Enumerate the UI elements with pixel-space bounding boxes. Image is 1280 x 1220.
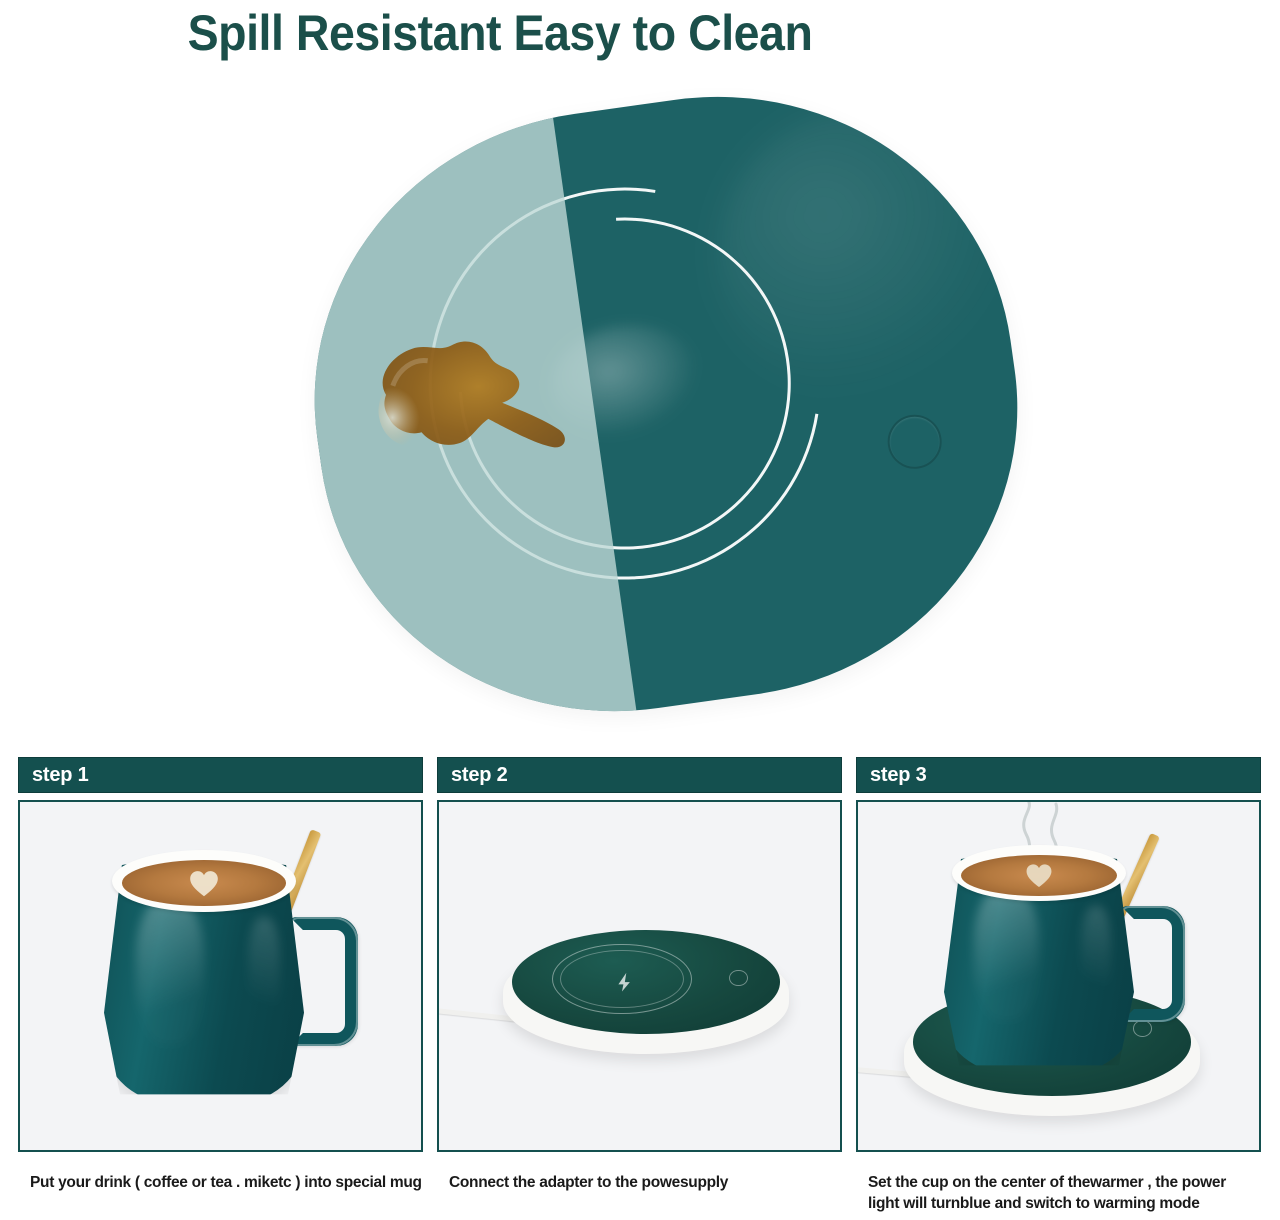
step-3-image-frame bbox=[856, 800, 1261, 1152]
scene-warmer-pad bbox=[439, 802, 840, 1150]
coffee-surface bbox=[961, 855, 1117, 896]
step-panel-2: step 2 bbox=[437, 757, 842, 1157]
latte-art-heart-icon bbox=[168, 870, 240, 898]
teal-mug bbox=[104, 864, 304, 1104]
pad-power-button-icon[interactable] bbox=[1133, 1020, 1152, 1037]
coffee-surface bbox=[122, 860, 286, 906]
page-title: Spill Resistant Easy to Clean bbox=[35, 4, 965, 62]
step-3-caption-line-2: light will turnblue and switch to warmin… bbox=[868, 1195, 1200, 1212]
step-panel-3: step 3 bbox=[856, 757, 1261, 1157]
mug-sheen-left bbox=[136, 898, 204, 1047]
step-1-image-frame bbox=[18, 800, 423, 1152]
mug-sheen-right bbox=[248, 917, 280, 1032]
hero-product-image bbox=[0, 86, 1280, 736]
latte-art-heart-icon bbox=[1005, 863, 1074, 888]
step-1-caption: Put your drink ( coffee or tea . miketc … bbox=[18, 1172, 423, 1220]
warmer-plate-wrapper bbox=[278, 86, 1055, 736]
steps-strip: step 1 bbox=[18, 757, 1262, 1157]
hero-stage bbox=[296, 94, 1026, 724]
step-2-caption: Connect the adapter to the powesupply bbox=[437, 1172, 842, 1220]
captions-row: Put your drink ( coffee or tea . miketc … bbox=[18, 1172, 1262, 1220]
coffee-spill-stain bbox=[352, 308, 581, 486]
pad-power-button-icon[interactable] bbox=[729, 970, 748, 987]
power-button-icon[interactable] bbox=[884, 411, 945, 472]
scene-mug-only bbox=[20, 802, 421, 1150]
step-2-image-frame bbox=[437, 800, 842, 1152]
warmer-plate bbox=[278, 86, 1055, 736]
step-panel-1: step 1 bbox=[18, 757, 423, 1157]
infographic-page: Spill Resistant Easy to Clean bbox=[0, 0, 1280, 1220]
mug-sheen-left bbox=[974, 888, 1039, 1022]
step-1-header: step 1 bbox=[18, 757, 423, 793]
step-3-caption-line-1: Set the cup on the center of thewarmer ,… bbox=[868, 1174, 1226, 1191]
step-3-header: step 3 bbox=[856, 757, 1261, 793]
teal-mug bbox=[944, 858, 1134, 1074]
pad-green-top bbox=[512, 930, 781, 1034]
mug-sheen-right bbox=[1081, 906, 1111, 1010]
warmer-pad bbox=[503, 930, 789, 1054]
scene-mug-on-warmer bbox=[858, 802, 1259, 1150]
heat-steam-icon bbox=[608, 970, 640, 993]
step-2-header: step 2 bbox=[437, 757, 842, 793]
step-3-caption: Set the cup on the center of thewarmer ,… bbox=[856, 1172, 1261, 1220]
